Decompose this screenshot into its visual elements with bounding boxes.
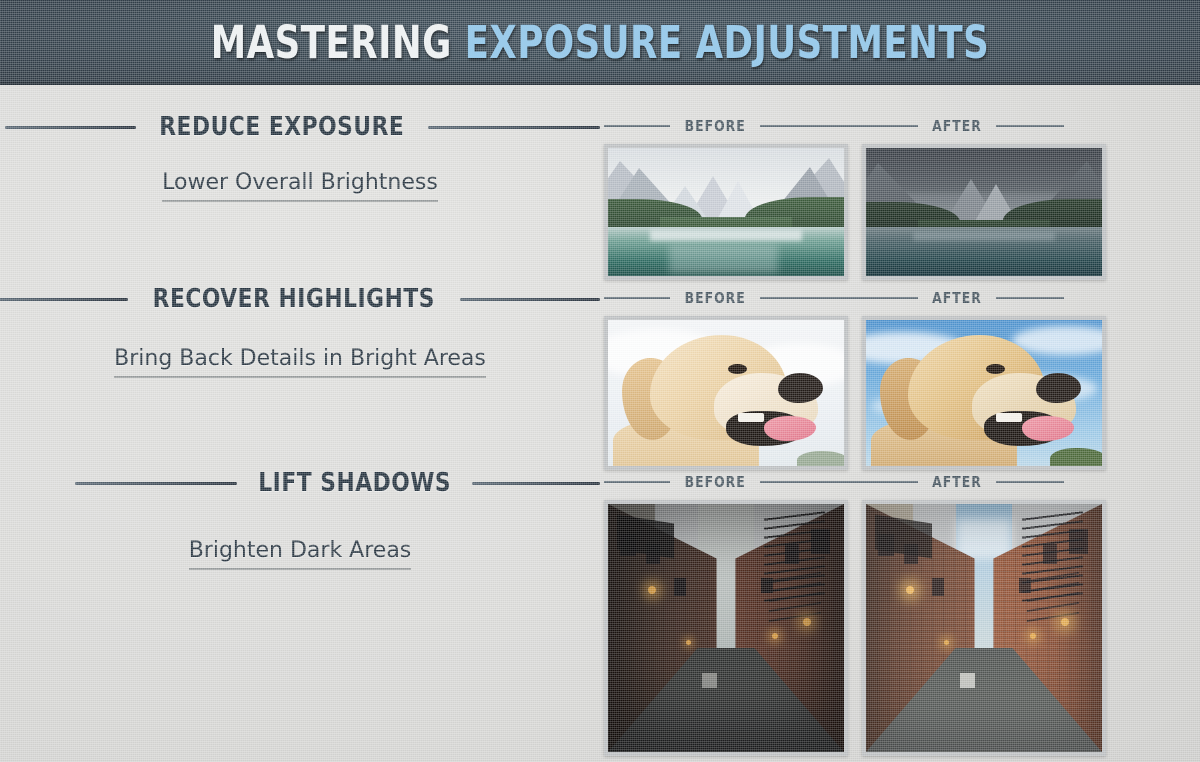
after-rule-right: [996, 125, 1064, 127]
comparison-block: BEFORE AFTER: [600, 468, 1200, 756]
comparison-block: BEFORE AFTER: [600, 112, 1200, 280]
before-label: BEFORE: [685, 473, 746, 491]
page-title: MASTERING EXPOSURE ADJUSTMENTS: [72, 0, 1128, 85]
title-part-mastering: MASTERING: [211, 16, 452, 69]
before-image-dog-blown-sky[interactable]: [604, 316, 848, 470]
section-subtitle-row: Bring Back Details in Bright Areas: [0, 346, 600, 378]
after-rule-right: [996, 297, 1064, 299]
after-image-dog-recovered-sky[interactable]: [862, 316, 1106, 470]
section-title: LIFT SHADOWS: [258, 468, 451, 498]
before-label: BEFORE: [685, 289, 746, 307]
section-heading-row: REDUCE EXPOSURE: [0, 112, 600, 142]
heading-rule-left: [5, 126, 136, 129]
section-title: REDUCE EXPOSURE: [160, 112, 405, 142]
heading-rule-right: [472, 482, 600, 485]
heading-rule-left: [75, 482, 237, 485]
image-pair: [600, 144, 1200, 280]
section-text-block: REDUCE EXPOSURE Lower Overall Brightness: [0, 112, 600, 202]
before-rule-right: [760, 297, 918, 299]
infographic-page: MASTERING EXPOSURE ADJUSTMENTS REDUCE EX…: [0, 0, 1200, 762]
heading-rule-left: [0, 298, 128, 301]
title-part-exposure-adjustments: EXPOSURE ADJUSTMENTS: [465, 16, 990, 69]
section-heading-row: RECOVER HIGHLIGHTS: [0, 284, 600, 314]
section-subtitle-row: Lower Overall Brightness: [0, 170, 600, 202]
comparison-block: BEFORE AFTER: [600, 284, 1200, 470]
section-text-block: LIFT SHADOWS Brighten Dark Areas: [0, 468, 600, 570]
after-image-mountain-dark[interactable]: [862, 144, 1106, 280]
before-label: BEFORE: [685, 117, 746, 135]
section-heading-row: LIFT SHADOWS: [0, 468, 600, 498]
image-pair: [600, 316, 1200, 470]
before-after-label-row: BEFORE AFTER: [600, 112, 1200, 140]
header-banner: MASTERING EXPOSURE ADJUSTMENTS: [0, 0, 1200, 85]
section-title: RECOVER HIGHLIGHTS: [153, 284, 435, 314]
before-image-mountain-bright[interactable]: [604, 144, 848, 280]
before-rule-left: [604, 125, 670, 127]
before-rule-left: [604, 481, 670, 483]
section-text-block: RECOVER HIGHLIGHTS Bring Back Details in…: [0, 284, 600, 378]
after-rule-right: [996, 481, 1064, 483]
before-image-alley-dark[interactable]: [604, 500, 848, 756]
before-after-label-row: BEFORE AFTER: [600, 284, 1200, 312]
after-label: AFTER: [933, 117, 983, 135]
before-rule-left: [604, 297, 670, 299]
after-label: AFTER: [933, 473, 983, 491]
section-subtitle: Bring Back Details in Bright Areas: [114, 346, 486, 378]
after-label: AFTER: [933, 289, 983, 307]
before-rule-right: [760, 125, 918, 127]
before-rule-right: [760, 481, 918, 483]
before-after-label-row: BEFORE AFTER: [600, 468, 1200, 496]
after-image-alley-brightened[interactable]: [862, 500, 1106, 756]
section-subtitle: Brighten Dark Areas: [189, 538, 412, 570]
heading-rule-right: [460, 298, 600, 301]
image-pair: [600, 500, 1200, 756]
section-subtitle-row: Brighten Dark Areas: [0, 538, 600, 570]
heading-rule-right: [428, 126, 600, 129]
section-subtitle: Lower Overall Brightness: [162, 170, 438, 202]
